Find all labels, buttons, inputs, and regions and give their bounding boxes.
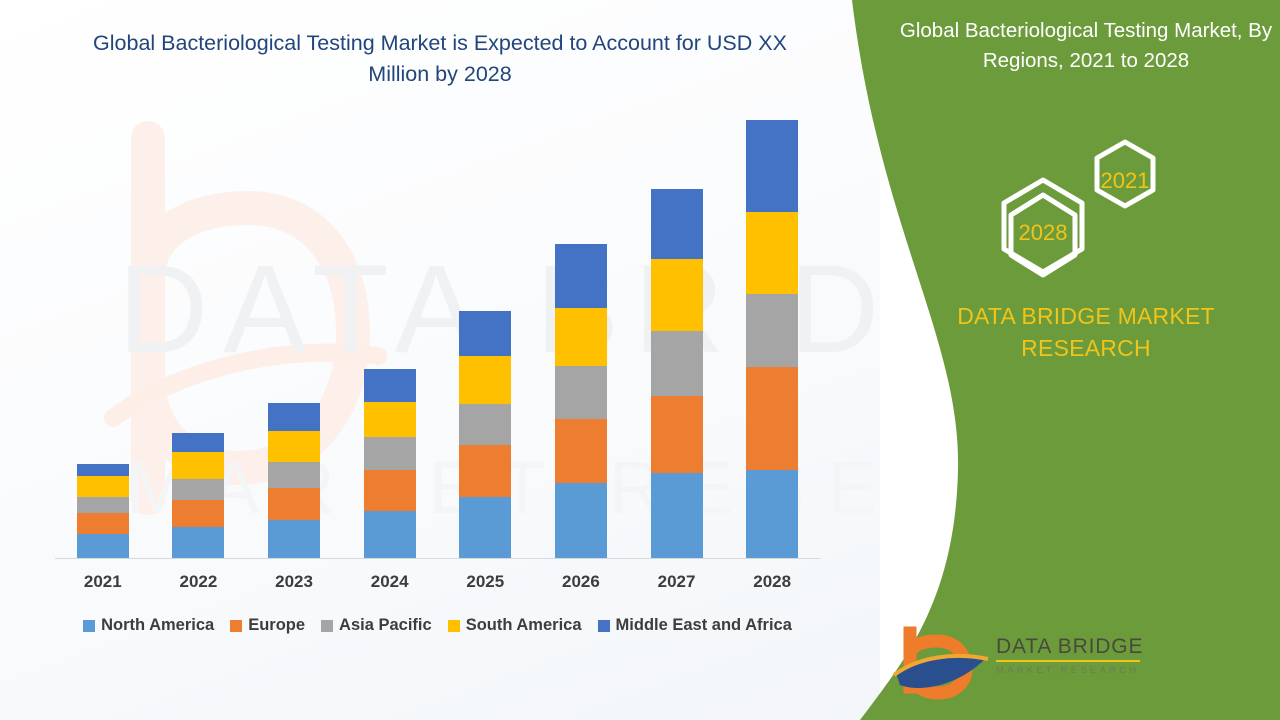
bar-stack xyxy=(555,244,607,558)
x-axis-tick-labels: 20212022202320242025202620272028 xyxy=(55,572,820,600)
bar-segment xyxy=(77,513,129,534)
x-axis-label: 2027 xyxy=(637,572,717,592)
legend-item[interactable]: Middle East and Africa xyxy=(598,616,792,635)
legend-label: South America xyxy=(466,616,582,635)
logo-mark-icon xyxy=(888,625,998,703)
bar-segment xyxy=(364,402,416,437)
bar-segment xyxy=(364,437,416,470)
bar-segment xyxy=(459,445,511,497)
bar-segment xyxy=(77,464,129,476)
bar-stack xyxy=(268,403,320,558)
bar-segment xyxy=(459,404,511,445)
green-panel-content: Global Bacteriological Testing Market, B… xyxy=(880,0,1280,720)
legend-item[interactable]: Europe xyxy=(230,616,305,635)
bar-stack xyxy=(77,464,129,558)
bar-segment xyxy=(172,479,224,500)
bar-segment xyxy=(268,403,320,431)
bar-segment xyxy=(172,452,224,479)
logo-divider xyxy=(996,660,1140,662)
brand-line-2: RESEARCH xyxy=(900,332,1272,364)
bar-segment xyxy=(746,470,798,558)
bar-segment xyxy=(459,356,511,404)
hexagon-label-2028: 2028 xyxy=(998,220,1088,246)
bar-segment xyxy=(746,294,798,367)
logo-wordmark: DATA BRIDGE MARKET RESEARCH xyxy=(996,635,1146,676)
bar-segment xyxy=(172,527,224,558)
hexagon-badges: 2021 2028 xyxy=(960,130,1200,290)
bar-segment xyxy=(268,520,320,558)
chart-panel: DATA BRIDGE MARKET RESEARCH Global Bacte… xyxy=(0,0,880,720)
bar-segment xyxy=(77,497,129,514)
hexagon-outline-icon xyxy=(960,130,1200,290)
bar-segment xyxy=(555,483,607,558)
bar-segment xyxy=(172,500,224,527)
bar-segment xyxy=(459,497,511,558)
logo-tagline: MARKET RESEARCH xyxy=(996,665,1146,676)
bar-segment xyxy=(555,244,607,308)
x-axis-label: 2021 xyxy=(63,572,143,592)
logo-company-name: DATA BRIDGE xyxy=(996,635,1146,659)
company-logo: DATA BRIDGE MARKET RESEARCH xyxy=(888,625,1138,703)
x-axis-label: 2024 xyxy=(350,572,430,592)
bar-segment xyxy=(651,473,703,558)
bar-segment xyxy=(555,366,607,419)
bar-stack xyxy=(651,189,703,558)
bar-segment xyxy=(746,212,798,294)
bar-segment xyxy=(268,431,320,462)
bar-stack xyxy=(459,311,511,558)
x-axis-label: 2025 xyxy=(445,572,525,592)
bar-segment xyxy=(746,367,798,470)
x-axis-label: 2023 xyxy=(254,572,334,592)
bar-segment xyxy=(172,433,224,452)
bar-stack xyxy=(364,369,416,558)
bar-stack xyxy=(746,120,798,558)
x-axis-label: 2026 xyxy=(541,572,621,592)
legend-swatch-icon xyxy=(321,620,333,632)
bar-segment xyxy=(651,189,703,260)
bar-segment xyxy=(651,259,703,331)
bar-segment xyxy=(268,462,320,488)
legend-item[interactable]: South America xyxy=(448,616,582,635)
x-axis-line xyxy=(55,558,820,559)
plot-area xyxy=(55,120,820,558)
bar-segment xyxy=(746,120,798,212)
bar-segment xyxy=(364,511,416,558)
bar-segment xyxy=(555,419,607,483)
legend-swatch-icon xyxy=(230,620,242,632)
legend-swatch-icon xyxy=(83,620,95,632)
legend-item[interactable]: North America xyxy=(83,616,214,635)
x-axis-label: 2022 xyxy=(158,572,238,592)
legend-label: Europe xyxy=(248,616,305,635)
x-axis-label: 2028 xyxy=(732,572,812,592)
bar-segment xyxy=(364,470,416,511)
bar-segment xyxy=(459,311,511,356)
bar-segment xyxy=(651,396,703,474)
legend-label: Middle East and Africa xyxy=(616,616,792,635)
infographic-slide: DATA BRIDGE MARKET RESEARCH Global Bacte… xyxy=(0,0,1280,720)
brand-name: DATA BRIDGE MARKET RESEARCH xyxy=(900,300,1272,364)
legend-swatch-icon xyxy=(598,620,610,632)
panel-title: Global Bacteriological Testing Market, B… xyxy=(898,16,1274,76)
legend-item[interactable]: Asia Pacific xyxy=(321,616,432,635)
chart-legend: North AmericaEuropeAsia PacificSouth Ame… xyxy=(55,616,820,635)
brand-line-1: DATA BRIDGE MARKET xyxy=(900,300,1272,332)
hexagon-label-2021: 2021 xyxy=(1080,168,1170,194)
bar-segment xyxy=(77,476,129,497)
legend-label: North America xyxy=(101,616,214,635)
bar-segment xyxy=(364,369,416,402)
legend-swatch-icon xyxy=(448,620,460,632)
bar-segment xyxy=(268,488,320,521)
bar-segment xyxy=(555,308,607,367)
bar-segment xyxy=(651,331,703,396)
bar-segment xyxy=(77,534,129,558)
bar-stack xyxy=(172,433,224,558)
legend-label: Asia Pacific xyxy=(339,616,432,635)
chart-title: Global Bacteriological Testing Market is… xyxy=(60,28,820,90)
